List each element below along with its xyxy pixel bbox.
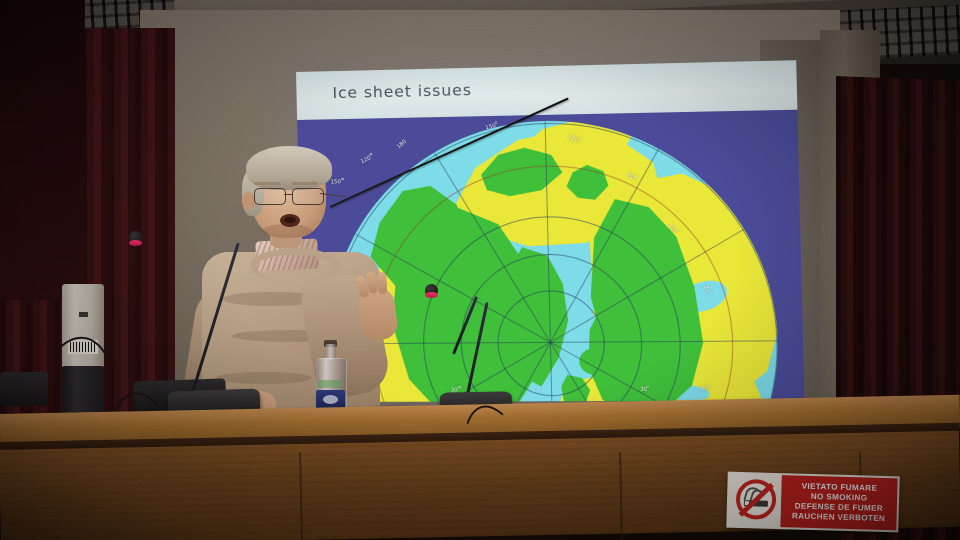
bottle-label-accent	[318, 380, 342, 388]
deg-label-180: 180	[395, 138, 408, 151]
slide-title: Ice sheet issues	[332, 81, 472, 102]
no-smoking-text-block: VIETATO FUMARE NO SMOKING DEFENSE DE FUM…	[780, 475, 897, 530]
microphone-left-ring	[129, 240, 142, 246]
no-smoking-icon	[728, 474, 781, 527]
no-smoking-sign: VIETATO FUMARE NO SMOKING DEFENSE DE FUM…	[726, 472, 899, 533]
microphone-center-ring	[425, 292, 438, 298]
deg-label-30e-bottom: 30E	[640, 385, 650, 393]
glasses-bridge	[284, 194, 292, 195]
deg-label-0: 0	[537, 385, 541, 393]
polar-map-globe	[323, 116, 783, 402]
bottle-logo	[323, 395, 338, 404]
av-device-badge	[79, 312, 88, 317]
glasses-lens-left	[254, 188, 286, 205]
speaker-eyebrow-left	[254, 182, 280, 185]
lecture-hall-photo: Ice sheet issues	[0, 0, 960, 540]
sign-line-german: RAUCHEN VERBOTEN	[792, 512, 886, 525]
deg-label-60e-bottom: 60E	[701, 384, 711, 392]
latitude-circle-30	[325, 118, 783, 402]
speaker-mouth-inner	[284, 217, 296, 223]
glasses-icon	[252, 188, 328, 203]
glasses-lens-right	[292, 188, 324, 205]
speaker-sweater-neckline	[250, 248, 340, 283]
speaker-eyebrow-right	[292, 182, 318, 185]
curtain-left-shadow	[0, 0, 85, 300]
